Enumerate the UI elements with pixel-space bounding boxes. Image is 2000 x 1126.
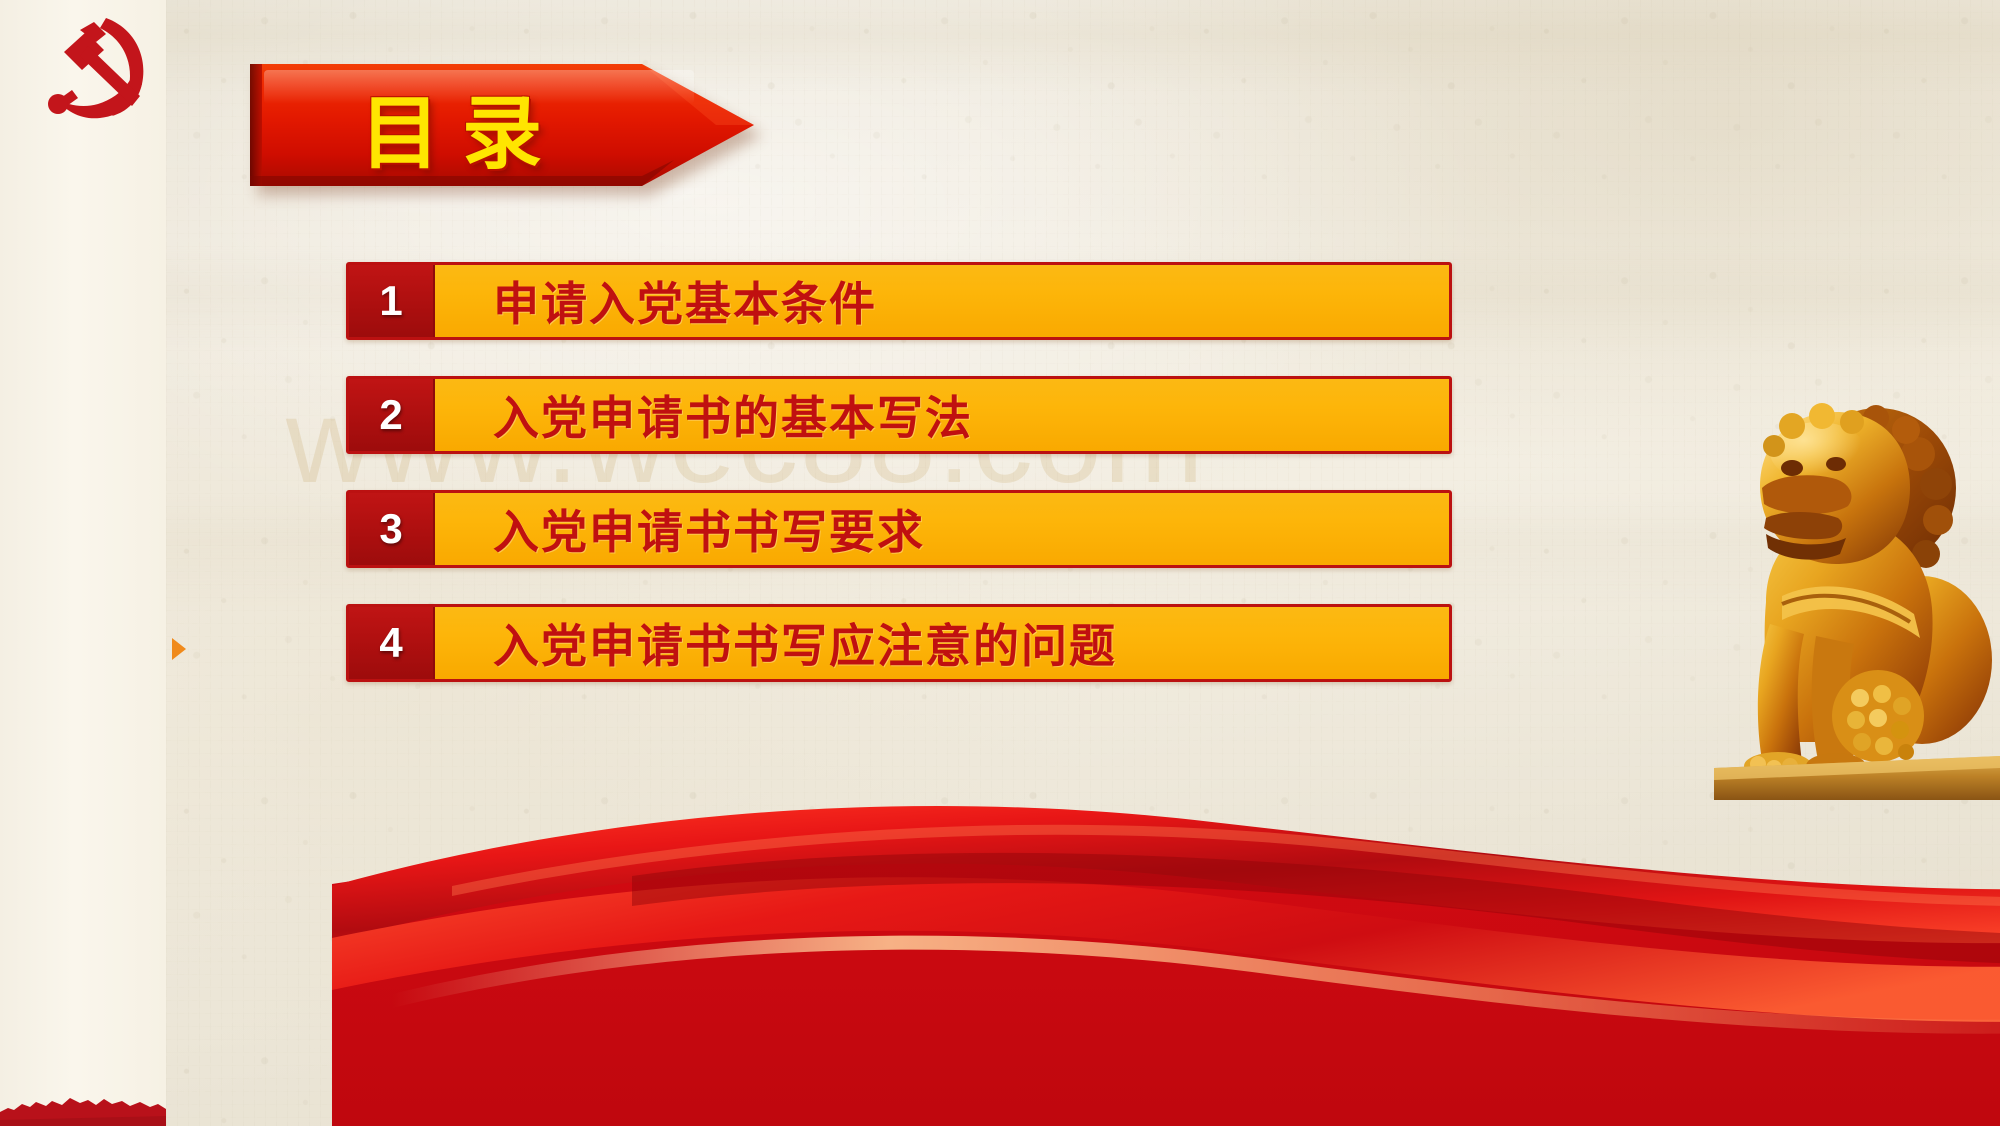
page-title: 目录 (360, 82, 700, 172)
orange-triangle-marker-icon (172, 638, 186, 660)
toc-number-badge: 2 (349, 379, 435, 451)
toc-number-badge: 4 (349, 607, 435, 679)
toc-item-4[interactable]: 4 入党申请书书写应注意的问题 (346, 604, 1452, 682)
presentation-slide: www.wec88.com (0, 0, 2000, 1126)
toc-item-label: 入党申请书的基本写法 (435, 379, 1449, 451)
toc-item-3[interactable]: 3 入党申请书书写要求 (346, 490, 1452, 568)
hammer-and-sickle-icon (42, 12, 158, 132)
toc-item-1[interactable]: 1 申请入党基本条件 (346, 262, 1452, 340)
toc-number-badge: 3 (349, 493, 435, 565)
left-sidebar (0, 0, 166, 1126)
toc-item-label: 申请入党基本条件 (435, 265, 1449, 337)
section-title-banner: 目录 (250, 64, 754, 186)
toc-item-label: 入党申请书书写要求 (435, 493, 1449, 565)
slide-canvas: www.wec88.com (166, 0, 2000, 1126)
toc-number-badge: 1 (349, 265, 435, 337)
toc-item-2[interactable]: 2 入党申请书的基本写法 (346, 376, 1452, 454)
table-of-contents: 1 申请入党基本条件 2 入党申请书的基本写法 3 入党申请书书写要求 4 入党… (346, 262, 1452, 682)
red-skyline-silhouette-icon (0, 1080, 166, 1126)
toc-item-label: 入党申请书书写应注意的问题 (435, 607, 1449, 679)
